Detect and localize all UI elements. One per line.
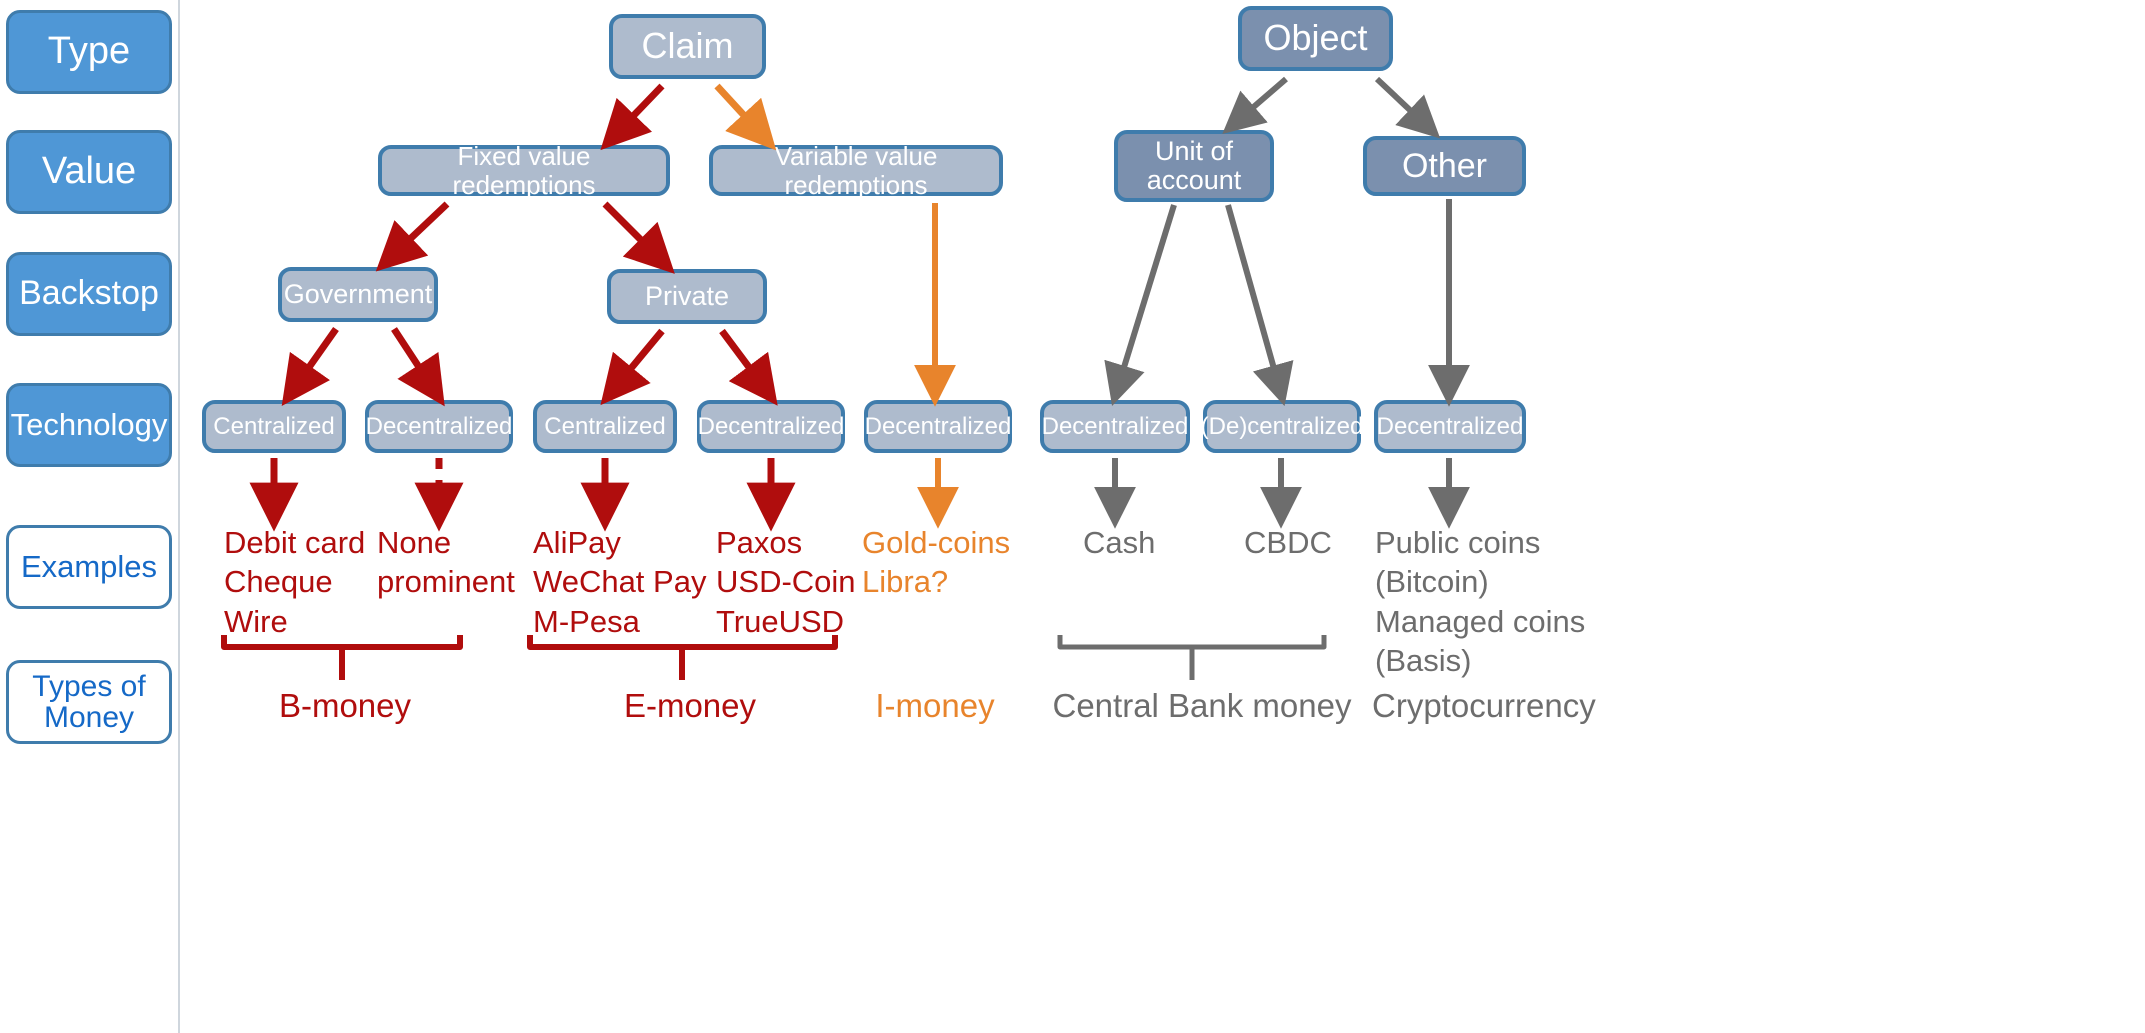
example-e-decentralized: Paxos USD-Coin TrueUSD [716,523,856,641]
example-cryptocurrency: Public coins (Bitcoin) Managed coins (Ba… [1375,523,1585,680]
rail-label-backstop: Backstop [19,276,159,312]
node-tech-uoa-decentralized-2-label: (De)centralized [1201,414,1364,440]
node-variable-value-label: Variable value redemptions [719,142,993,198]
example-e-centralized: AliPay WeChat Pay M-Pesa [533,523,706,641]
rail-label-technology: Technology [11,409,168,442]
connectors-layer [0,0,2145,1033]
node-tech-priv-decentralized[interactable]: Decentralized [697,400,845,453]
rail-item-value: Value [6,130,172,214]
rail-item-technology: Technology [6,383,172,467]
node-tech-other-decentralized[interactable]: Decentralized [1374,400,1526,453]
types-of-money-b-money: B-money [230,687,460,725]
node-government-label: Government [284,280,433,309]
example-b-decentralized: None prominent [377,523,515,602]
node-tech-priv-centralized[interactable]: Centralized [533,400,677,453]
arrow-unit-to-decentralized [1117,205,1174,390]
arrow-fixed-to-government [390,204,447,258]
node-tech-variable-decentralized-label: Decentralized [865,414,1012,440]
brace-group-central-bank-money [1060,635,1324,680]
example-cash: Cash [1083,523,1155,562]
node-tech-gov-centralized[interactable]: Centralized [202,400,346,453]
node-variable-value-redemptions[interactable]: Variable value redemptions [709,145,1003,196]
brace-group-b-money [224,635,460,680]
node-tech-other-decentralized-label: Decentralized [1377,414,1524,440]
node-claim-label: Claim [641,27,733,66]
node-unit-of-account-label: Unit of account [1147,137,1242,195]
node-unit-of-account[interactable]: Unit of account [1114,130,1274,202]
arrow-object-to-unit [1235,79,1286,123]
arrow-unit-to-decentralized-2 [1228,205,1280,390]
example-cbdc: CBDC [1244,523,1332,562]
rail-label-value: Value [42,152,136,192]
example-i-money: Gold-coins Libra? [862,523,1010,602]
node-object[interactable]: Object [1238,6,1393,71]
types-of-money-i-money: I-money [835,687,1035,725]
node-government[interactable]: Government [278,267,438,322]
arrow-private-to-centralized [613,331,662,390]
node-private-label: Private [645,282,729,311]
node-tech-uoa-decentralized-2[interactable]: (De)centralized [1203,400,1361,453]
node-tech-gov-decentralized-label: Decentralized [366,414,513,440]
arrow-government-to-decentralized [394,329,434,390]
node-other[interactable]: Other [1363,136,1526,196]
types-of-money-central-bank: Central Bank money [1042,687,1362,725]
node-object-label: Object [1263,19,1367,58]
node-tech-gov-centralized-label: Centralized [213,414,334,440]
rail-label-types-of-money: Types of Money [32,671,145,734]
node-other-label: Other [1402,148,1487,185]
arrow-object-to-other [1377,79,1428,127]
arrow-government-to-centralized [293,329,336,390]
rail-label-type: Type [48,32,130,72]
node-tech-priv-centralized-label: Centralized [544,414,665,440]
node-tech-variable-decentralized[interactable]: Decentralized [864,400,1012,453]
brace-group-e-money [530,635,835,680]
node-tech-gov-decentralized[interactable]: Decentralized [365,400,513,453]
rail-divider [178,0,180,1033]
arrow-fixed-to-private [605,204,661,260]
arrow-private-to-decentralized [722,331,766,390]
node-fixed-value-label: Fixed value redemptions [388,142,660,198]
types-of-money-e-money: E-money [575,687,805,725]
node-fixed-value-redemptions[interactable]: Fixed value redemptions [378,145,670,196]
rail-item-backstop: Backstop [6,252,172,336]
example-b-centralized: Debit card Cheque Wire [224,523,365,641]
node-claim[interactable]: Claim [609,14,766,79]
rail-item-type: Type [6,10,172,94]
node-tech-uoa-decentralized[interactable]: Decentralized [1040,400,1190,453]
node-tech-priv-decentralized-label: Decentralized [698,414,845,440]
arrow-claim-to-variable [717,86,763,136]
rail-item-types-of-money: Types of Money [6,660,172,744]
node-private[interactable]: Private [607,269,767,324]
rail-label-examples: Examples [21,551,157,584]
rail-item-examples: Examples [6,525,172,609]
node-tech-uoa-decentralized-label: Decentralized [1042,414,1189,440]
arrow-claim-to-fixed [614,86,662,136]
types-of-money-cryptocurrency: Cryptocurrency [1372,687,1662,725]
